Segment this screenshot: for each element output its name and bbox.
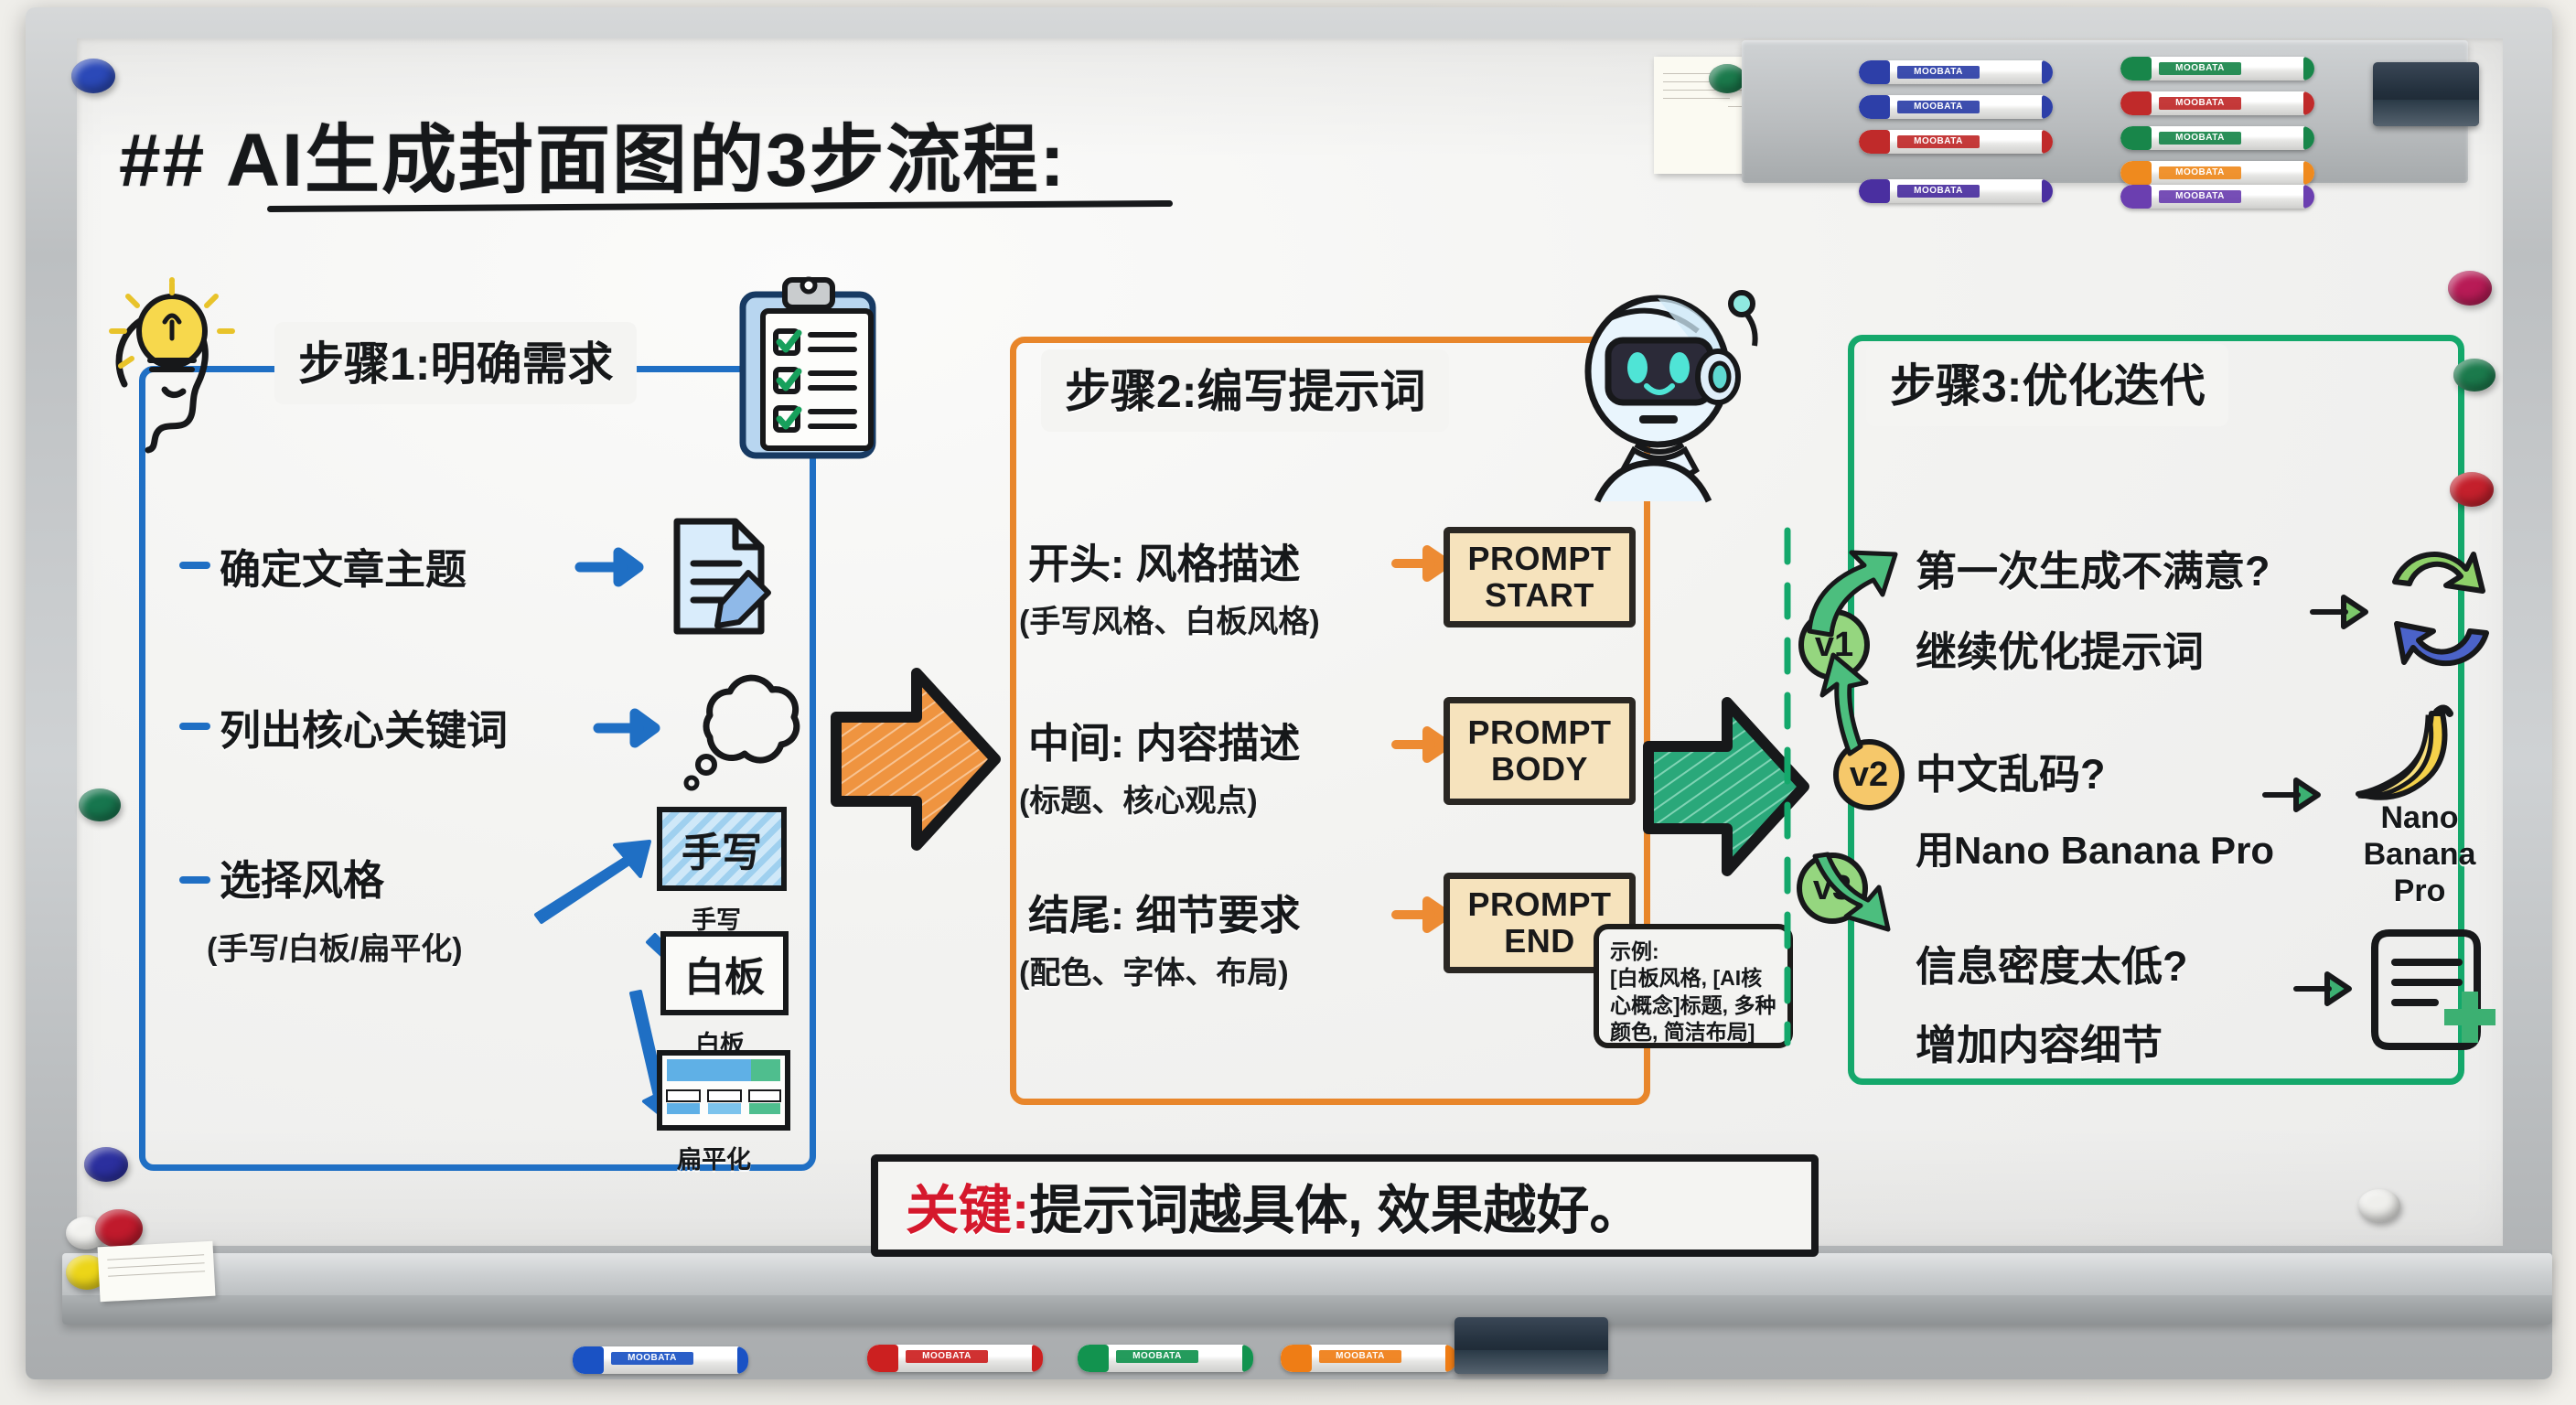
marker-purple-1[interactable]: MOOBATA	[1859, 179, 2053, 203]
marker-purple-2[interactable]: MOOBATA	[2120, 185, 2314, 209]
marker-cap	[1078, 1345, 1109, 1372]
eraser-felt	[2373, 100, 2479, 126]
marker-brand: MOOBATA	[1897, 101, 1980, 113]
marker-tail	[1242, 1345, 1253, 1372]
key-statement-text: 提示词越具体, 效果越好。	[1029, 1167, 1642, 1244]
style-thumb-whiteboard-text: 白板	[666, 937, 783, 1010]
marker-brand: MOOBATA	[906, 1350, 988, 1363]
step2-item1-subtext: (手写风格、白板风格)	[1019, 596, 1320, 641]
document-pencil-icon	[664, 512, 783, 640]
marker-tail	[2042, 130, 2053, 154]
marker-brand: MOOBATA	[2159, 62, 2241, 75]
marker-tail	[2303, 185, 2314, 209]
marker-tail	[737, 1346, 748, 1374]
marker-tail	[1032, 1345, 1043, 1372]
nano-banana-pro-text: Nano Banana Pro	[2364, 800, 2476, 908]
magnet-green-right	[2453, 359, 2495, 391]
sticky-line	[1663, 98, 1730, 99]
marker-cap	[867, 1345, 898, 1372]
marker-tail	[2303, 57, 2314, 80]
eraser-felt	[1454, 1350, 1608, 1374]
prompt-end-line2: END	[1504, 923, 1575, 960]
step1-item2-arrow	[595, 704, 664, 752]
step2-item3-subtext: (配色、字体、布局)	[1019, 948, 1289, 992]
step2-badge: 步骤2:编写提示词	[1041, 349, 1449, 432]
bottom-center-eraser[interactable]	[1454, 1317, 1608, 1374]
marker-rail	[1742, 40, 2468, 183]
marker-brand: MOOBATA	[1897, 66, 1980, 79]
magnet-red-right	[2450, 472, 2494, 507]
marker-cap	[1859, 60, 1890, 84]
marker-tail	[2042, 179, 2053, 203]
banana-icon	[2345, 706, 2474, 807]
lightbulb-head-icon	[88, 274, 252, 457]
style-thumb-handwriting: 手写	[657, 807, 787, 891]
marker-brand: MOOBATA	[1116, 1350, 1198, 1363]
marker-green-1[interactable]: MOOBATA	[2120, 57, 2314, 80]
step3-item3-arrow	[2291, 966, 2358, 1012]
key-statement-label: 关键:	[906, 1167, 1029, 1244]
bottom-left-note-card	[98, 1241, 216, 1303]
top-right-eraser[interactable]	[2373, 62, 2479, 126]
magnet-blue-topleft	[71, 59, 115, 93]
marker-cap	[1281, 1345, 1312, 1372]
refresh-cycle-icon	[2378, 545, 2506, 682]
robot-icon	[1555, 274, 1784, 512]
marker-tail	[2303, 161, 2314, 185]
step1-item3-subtext: (手写/白板/扁平化)	[207, 924, 463, 969]
step2-item3-text: 结尾: 细节要求	[1028, 882, 1301, 941]
magnet-green-left	[79, 788, 121, 821]
marker-cap	[2120, 185, 2152, 209]
step1-item1-text: 确定文章主题	[220, 536, 467, 595]
tray-marker-red[interactable]: MOOBATA	[867, 1345, 1043, 1372]
marker-brand: MOOBATA	[2159, 190, 2241, 203]
prompt-start-line2: START	[1485, 577, 1594, 614]
example-callout-line3: 颜色, 简洁布局]	[1610, 1019, 1776, 1046]
step1-item3-bullet	[179, 876, 210, 884]
marker-brand: MOOBATA	[1897, 135, 1980, 148]
page-title: ## AI生成封面图的3步流程:	[119, 99, 1067, 208]
style-thumb-handwriting-text: 手写	[662, 812, 781, 885]
tray-lip	[62, 1295, 2552, 1325]
example-callout-title: 示例:	[1610, 938, 1776, 965]
step3-item1-arrow	[2307, 589, 2375, 635]
prompt-start-line1: PROMPT	[1467, 541, 1611, 577]
marker-blue-1[interactable]: MOOBATA	[1859, 60, 2053, 84]
marker-cap	[573, 1346, 604, 1374]
whiteboard-photo: ## AI生成封面图的3步流程: 步骤1:明确需求	[0, 0, 2576, 1405]
tray-marker-blue[interactable]: MOOBATA	[573, 1346, 748, 1374]
step1-item1-bullet	[179, 562, 210, 569]
step1-item1-arrow	[576, 543, 649, 591]
marker-tail	[2303, 91, 2314, 115]
marker-cap	[2120, 57, 2152, 80]
step1-item2-bullet	[179, 723, 210, 730]
nano-banana-pro-label: Nano Banana Pro	[2351, 799, 2488, 909]
prompt-body-line1: PROMPT	[1467, 714, 1611, 751]
marker-blue-2[interactable]: MOOBATA	[1859, 95, 2053, 119]
step2-item1-text: 开头: 风格描述	[1028, 531, 1301, 590]
marker-brand: MOOBATA	[2159, 166, 2241, 179]
prompt-end-line1: PROMPT	[1467, 886, 1611, 923]
step3-badge: 步骤3:优化迭代	[1866, 344, 2228, 426]
key-statement-box: 关键: 提示词越具体, 效果越好。	[871, 1154, 1819, 1257]
step1-item2-text: 列出核心关键词	[220, 697, 508, 756]
marker-brand: MOOBATA	[1319, 1350, 1401, 1363]
marker-brand: MOOBATA	[611, 1352, 693, 1365]
step3-item1-line1: 第一次生成不满意?	[1916, 538, 2270, 597]
tray-marker-green[interactable]: MOOBATA	[1078, 1345, 1253, 1372]
arrow-step1-to-step2	[805, 651, 1025, 871]
prompt-start-box: PROMPT START	[1444, 527, 1636, 627]
marker-cap	[1859, 179, 1890, 203]
magnet-red-bottomleft	[95, 1209, 143, 1248]
style-thumb-whiteboard: 白板	[660, 931, 789, 1015]
prompt-body-line2: BODY	[1491, 751, 1588, 788]
marker-brand: MOOBATA	[2159, 97, 2241, 110]
step3-item2-arrow	[2259, 772, 2327, 818]
step2-item2-subtext: (标题、核心观点)	[1019, 776, 1258, 820]
magnet-navy-bottomleft	[84, 1147, 128, 1182]
marker-tail	[2042, 60, 2053, 84]
marker-brand: MOOBATA	[1897, 185, 1980, 198]
magnet-white-bottomright	[2358, 1189, 2400, 1222]
step1-item3-text: 选择风格	[220, 847, 384, 906]
marker-cap	[2120, 126, 2152, 150]
example-callout: 示例: [白板风格, [AI核 心概念]标题, 多种 颜色, 简洁布局]	[1594, 924, 1793, 1048]
marker-cap	[1859, 95, 1890, 119]
thought-cloud-icon	[673, 668, 820, 796]
step3-item2-line1: 中文乱码?	[1916, 741, 2106, 800]
step1-badge: 步骤1:明确需求	[274, 322, 637, 404]
marker-red-1[interactable]: MOOBATA	[1859, 130, 2053, 154]
step2-item2-text: 中间: 内容描述	[1028, 710, 1301, 769]
prompt-body-box: PROMPT BODY	[1444, 697, 1636, 805]
marker-orange-1[interactable]: MOOBATA	[2120, 161, 2314, 185]
example-callout-line1: [白板风格, [AI核	[1610, 965, 1776, 992]
step3-item3-line1: 信息密度太低?	[1916, 933, 2188, 992]
magnet-magenta-right	[2448, 271, 2492, 306]
magnet-green-sticky	[1709, 64, 1745, 93]
marker-brand: MOOBATA	[2159, 132, 2241, 145]
step3-item1-line2: 继续优化提示词	[1916, 618, 2204, 678]
style-label-flat: 扁平化	[677, 1140, 751, 1175]
tray-marker-orange[interactable]: MOOBATA	[1281, 1345, 1456, 1372]
marker-green-2[interactable]: MOOBATA	[2120, 126, 2314, 150]
step3-item2-line2: 用Nano Banana Pro	[1916, 820, 2274, 875]
marker-cap	[1859, 130, 1890, 154]
marker-tail	[2303, 126, 2314, 150]
marker-red-2[interactable]: MOOBATA	[2120, 91, 2314, 115]
marker-tray	[62, 1253, 2552, 1325]
example-callout-line2: 心概念]标题, 多种	[1610, 992, 1776, 1019]
marker-cap	[2120, 91, 2152, 115]
marker-cap	[2120, 161, 2152, 185]
marker-tail	[2042, 95, 2053, 119]
step3-item3-line2: 增加内容细节	[1916, 1012, 2163, 1071]
clipboard-checklist-icon	[732, 274, 887, 467]
style-thumb-flat	[657, 1050, 790, 1131]
document-plus-icon	[2373, 920, 2510, 1057]
